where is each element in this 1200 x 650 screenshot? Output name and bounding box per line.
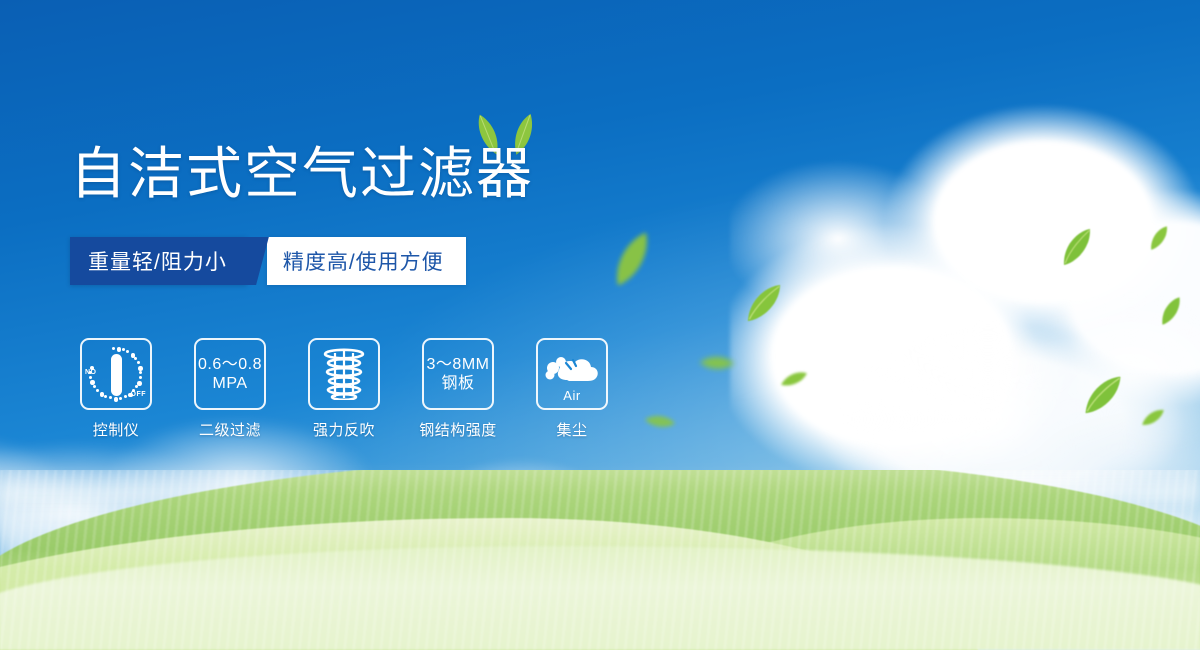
gauge-tick-dot <box>128 393 133 398</box>
gauge-needle <box>111 354 122 396</box>
air-cloud-icon: Air <box>536 338 608 410</box>
gauge-icon: NO OFF <box>80 338 152 410</box>
page-title: 自洁式空气过滤器 <box>70 142 534 206</box>
floating-leaf-5 <box>1050 222 1103 273</box>
gauge-tick-dot <box>93 385 96 388</box>
gauge-tick-dot <box>137 381 142 386</box>
feature-label: 二级过滤 <box>199 419 261 440</box>
gauge-tick-dot <box>137 361 140 364</box>
gauge-tick-dot <box>139 371 142 374</box>
gauge-tick-dot <box>114 397 119 402</box>
gauge-tick-dot <box>104 395 107 398</box>
pressure-icon-text: 0.6～0.8 MPA <box>198 355 262 393</box>
pressure-text-icon: 0.6～0.8 MPA <box>194 338 266 410</box>
gauge-tick-dot <box>109 396 112 399</box>
floating-leaf-10 <box>642 407 677 437</box>
gauge-tick-dot <box>126 350 129 353</box>
feature-label: 钢结构强度 <box>419 419 497 440</box>
steel-line-1: 3～8MM <box>427 355 490 374</box>
gauge-dial: NO OFF <box>87 345 145 403</box>
gauge-tick-dot <box>112 347 115 350</box>
feature-label: 强力反吹 <box>313 419 375 440</box>
feature-item-steel[interactable]: 3～8MM 钢板 钢结构强度 <box>422 338 494 440</box>
floating-leaf-3 <box>697 347 736 378</box>
feature-list: NO OFF 控制仪 0.6～0.8 MPA 二级过滤 <box>80 338 608 440</box>
floating-leaf-2 <box>736 278 793 329</box>
gauge-tick-dot <box>131 353 136 358</box>
product-banner: 自洁式空气过滤器 重量轻/阻力小 精度高/使用方便 NO OFF 控制仪 0.6… <box>0 0 1200 650</box>
feature-item-backblow[interactable]: 强力反吹 <box>308 338 380 440</box>
gauge-tick-dot <box>117 347 122 352</box>
grass-texture <box>0 470 1200 650</box>
grass-field <box>0 470 1200 650</box>
subtitle-right-panel: 精度高/使用方便 <box>267 237 466 285</box>
floating-leaf-9 <box>1138 406 1167 428</box>
subtitle-bar: 重量轻/阻力小 精度高/使用方便 <box>70 237 466 285</box>
pressure-line-2: MPA <box>198 374 262 393</box>
filter-coil-icon <box>308 338 380 410</box>
subtitle-left-panel: 重量轻/阻力小 <box>70 237 247 285</box>
pressure-line-1: 0.6～0.8 <box>198 355 262 374</box>
gauge-tick-dot <box>89 371 92 374</box>
subtitle-divider <box>247 237 269 285</box>
floating-leaf-4 <box>779 368 809 390</box>
cloud-large-right <box>730 96 1200 516</box>
floating-leaf-1 <box>602 224 661 295</box>
floating-leaf-7 <box>1152 292 1191 330</box>
gauge-tick-dot <box>139 376 142 379</box>
feature-label: 控制仪 <box>93 419 140 440</box>
gauge-tick-dot <box>89 376 92 379</box>
floating-leaf-6 <box>1143 223 1175 253</box>
feature-item-pressure[interactable]: 0.6～0.8 MPA 二级过滤 <box>194 338 266 440</box>
feature-label: 集尘 <box>556 419 587 440</box>
gauge-label-off: OFF <box>131 391 147 398</box>
floating-leaf-8 <box>1073 368 1133 422</box>
feature-item-controller[interactable]: NO OFF 控制仪 <box>80 338 152 440</box>
gauge-tick-dot <box>119 397 122 400</box>
gauge-tick-dot <box>135 385 138 388</box>
air-cloud-glyph <box>543 350 601 390</box>
steel-icon-text: 3～8MM 钢板 <box>427 355 490 393</box>
gauge-tick-dot <box>122 348 125 351</box>
steel-line-2: 钢板 <box>427 374 490 393</box>
gauge-tick-dot <box>138 366 143 371</box>
gauge-tick-dot <box>124 395 127 398</box>
filter-coil-glyph <box>319 348 369 400</box>
gauge-tick-dot <box>96 389 99 392</box>
steel-plate-text-icon: 3～8MM 钢板 <box>422 338 494 410</box>
feature-item-dust[interactable]: Air 集尘 <box>536 338 608 440</box>
air-icon-text: Air <box>538 388 606 403</box>
